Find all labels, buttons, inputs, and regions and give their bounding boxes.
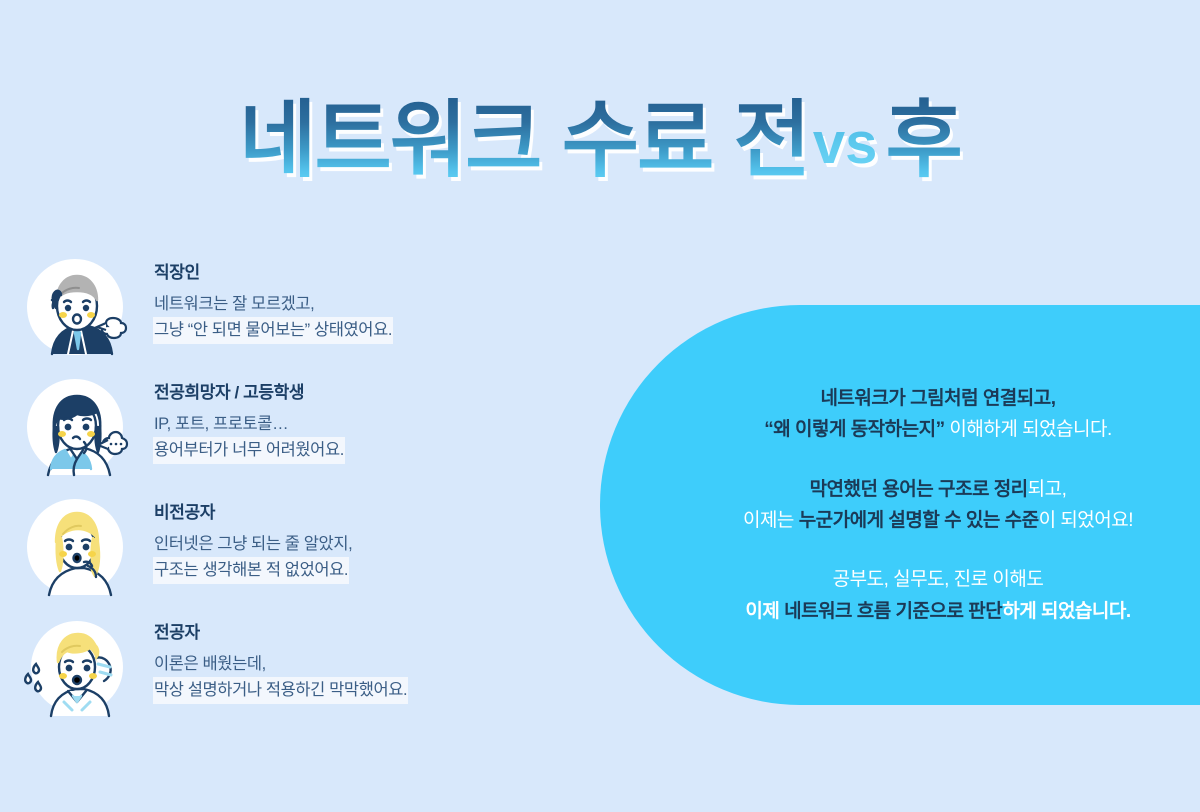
title-after-text: 후 [885, 96, 960, 184]
after-3-line2-white-pre: 이제 [745, 601, 784, 622]
persona-title: 직장인 [154, 258, 392, 283]
after-2-line2-white-pre: 이제는 [743, 510, 799, 531]
after-2-line2-dark: 누군가에게 설명할 수 있는 수준 [799, 510, 1039, 531]
persona-line-1: 이론은 배웠는데, [154, 652, 266, 678]
list-item: 전공희망자 / 고등학생 IP, 포트, 프로토콜… 용어부터가 너무 어려웠어… [18, 370, 558, 490]
after-result-panel: 네트워크가 그림처럼 연결되고, “왜 이렇게 동작하는지” 이해하게 되었습니… [600, 305, 1200, 705]
after-2-line1-white: 되고, [1028, 479, 1067, 500]
after-3-line1-white: 공부도, 실무도, 진로 이해도 [833, 569, 1044, 590]
after-line: “왜 이렇게 동작하는지” 이해하게 되었습니다. [764, 414, 1112, 445]
after-block-3: 공부도, 실무도, 진로 이해도 이제 네트워크 흐름 기준으로 판단하게 되었… [745, 564, 1130, 627]
list-item: 비전공자 인터넷은 그냥 되는 줄 알았지, 구조는 생각해본 적 없었어요. [18, 490, 558, 610]
persona-line-2-highlight: 구조는 생각해본 적 없었어요. [154, 558, 348, 584]
persona-line-2-highlight: 용어부터가 너무 어려웠어요. [154, 438, 344, 464]
after-block-1: 네트워크가 그림처럼 연결되고, “왜 이렇게 동작하는지” 이해하게 되었습니… [764, 383, 1112, 446]
after-3-line2-dark: 네트워크 흐름 기준으로 판단 [784, 601, 1002, 622]
after-2-line2-white-post: 이 되었어요! [1039, 510, 1133, 531]
infographic-canvas: 네트워크 수료 전vs후 [0, 0, 1200, 812]
after-line: 네트워크가 그림처럼 연결되고, [764, 383, 1112, 414]
after-line: 공부도, 실무도, 진로 이해도 [745, 564, 1130, 595]
persona-line-2-highlight: 막상 설명하거나 적용하긴 막막했어요. [154, 678, 407, 704]
after-line: 이제 네트워크 흐름 기준으로 판단하게 되었습니다. [745, 596, 1130, 627]
persona-title: 전공자 [154, 618, 407, 643]
persona-text-block: 직장인 네트워크는 잘 모르겠고, 그냥 “안 되면 물어보는” 상태였어요. [136, 250, 392, 343]
list-item: 전공자 이론은 배웠는데, 막상 설명하거나 적용하긴 막막했어요. [18, 610, 558, 730]
after-1-line2-dark: “왜 이렇게 동작하는지” [764, 419, 944, 440]
title-vs-text: vs [813, 110, 878, 177]
persona-text-block: 전공희망자 / 고등학생 IP, 포트, 프로토콜… 용어부터가 너무 어려웠어… [136, 370, 344, 463]
high-school-girl-avatar [18, 370, 136, 488]
after-line: 이제는 누군가에게 설명할 수 있는 수준이 되었어요! [743, 505, 1133, 536]
persona-text-block: 전공자 이론은 배웠는데, 막상 설명하거나 적용하긴 막막했어요. [136, 610, 407, 703]
page-title: 네트워크 수료 전vs후 [0, 96, 1200, 184]
persona-line-1: 네트워크는 잘 모르겠고, [154, 292, 314, 318]
after-line: 막연했던 용어는 구조로 정리되고, [743, 474, 1133, 505]
persona-title: 비전공자 [154, 498, 352, 523]
list-item: 직장인 네트워크는 잘 모르겠고, 그냥 “안 되면 물어보는” 상태였어요. [18, 250, 558, 370]
after-2-line1-dark: 막연했던 용어는 구조로 정리 [810, 479, 1028, 500]
title-before-text: 네트워크 수료 전 [239, 96, 809, 184]
persona-text-block: 비전공자 인터넷은 그냥 되는 줄 알았지, 구조는 생각해본 적 없었어요. [136, 490, 352, 583]
after-block-2: 막연했던 용어는 구조로 정리되고, 이제는 누군가에게 설명할 수 있는 수준… [743, 474, 1133, 537]
non-major-woman-avatar [18, 490, 136, 608]
after-1-line1-dark: 네트워크가 그림처럼 연결되고, [820, 388, 1055, 409]
persona-line-2-highlight: 그냥 “안 되면 물어보는” 상태였어요. [154, 318, 392, 344]
after-3-line2-white-post: 하게 되었습니다. [1002, 601, 1130, 622]
before-personas-list: 직장인 네트워크는 잘 모르겠고, 그냥 “안 되면 물어보는” 상태였어요. [18, 250, 558, 730]
major-student-man-avatar [18, 610, 136, 728]
office-worker-man-avatar [18, 250, 136, 368]
persona-line-1: IP, 포트, 프로토콜… [154, 412, 288, 438]
after-1-line2-white: 이해하게 되었습니다. [945, 419, 1112, 440]
persona-title: 전공희망자 / 고등학생 [154, 378, 344, 403]
persona-line-1: 인터넷은 그냥 되는 줄 알았지, [154, 532, 352, 558]
